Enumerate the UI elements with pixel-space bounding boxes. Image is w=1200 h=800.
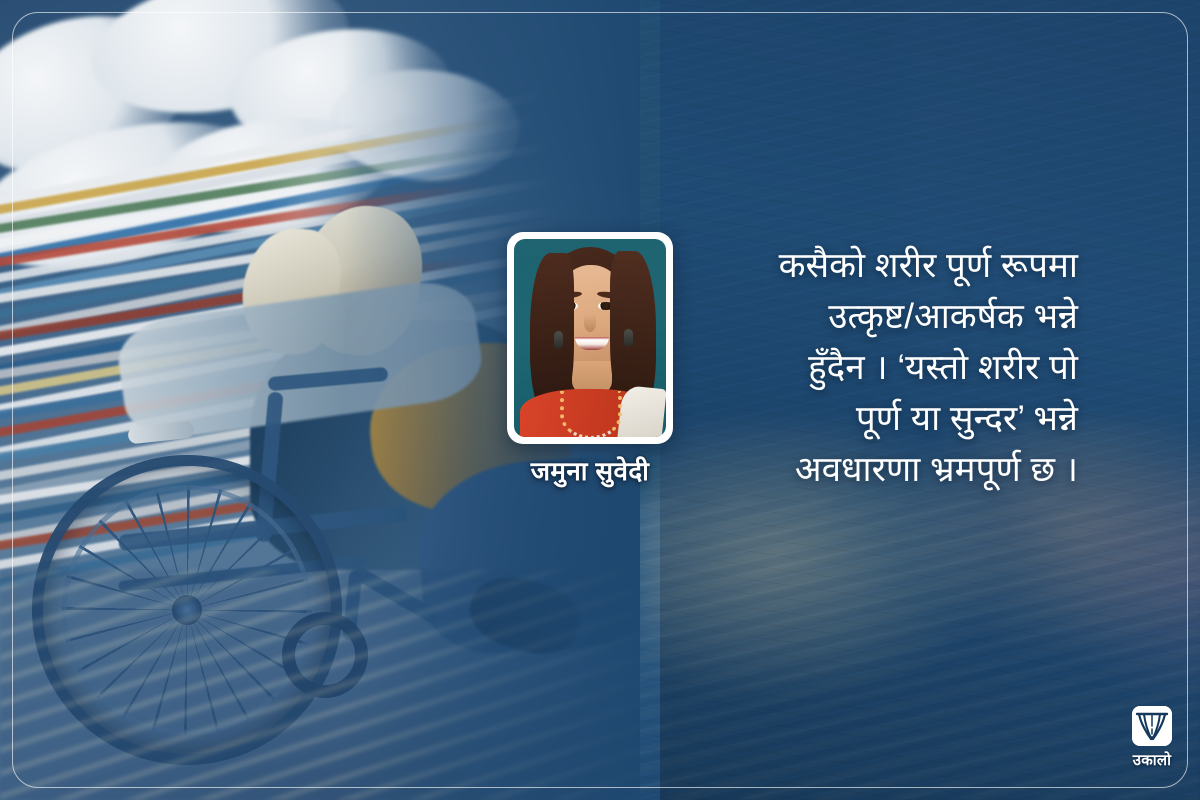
portrait-earring (554, 331, 563, 349)
quote-text: कसैको शरीर पूर्ण रूपमाउत्कृष्ट/आकर्षक भन… (640, 240, 1078, 495)
quote-line: अवधारणा भ्रमपूर्ण छ । (640, 444, 1078, 495)
ukaalo-path-logo-icon (1132, 706, 1172, 746)
quote-line: कसैको शरीर पूर्ण रूपमा (640, 240, 1078, 291)
quote-line: हुँदैन । ‘यस्तो शरीर पो (640, 342, 1078, 393)
portrait-nose (584, 314, 596, 332)
portrait-earring (624, 329, 633, 347)
ukaalo-wordmark: उकालो (1133, 750, 1172, 770)
quote-line: उत्कृष्ट/आकर्षक भन्ने (640, 291, 1078, 342)
portrait-beaded-necklace (560, 391, 622, 437)
quote-line: पूर्ण या सुन्दर’ भन्ने (640, 393, 1078, 444)
quote-card: जमुना सुवेदी कसैको शरीर पूर्ण रूपमाउत्कृ… (0, 0, 1200, 800)
ukaalo-logo[interactable]: उकालो (1132, 706, 1172, 770)
